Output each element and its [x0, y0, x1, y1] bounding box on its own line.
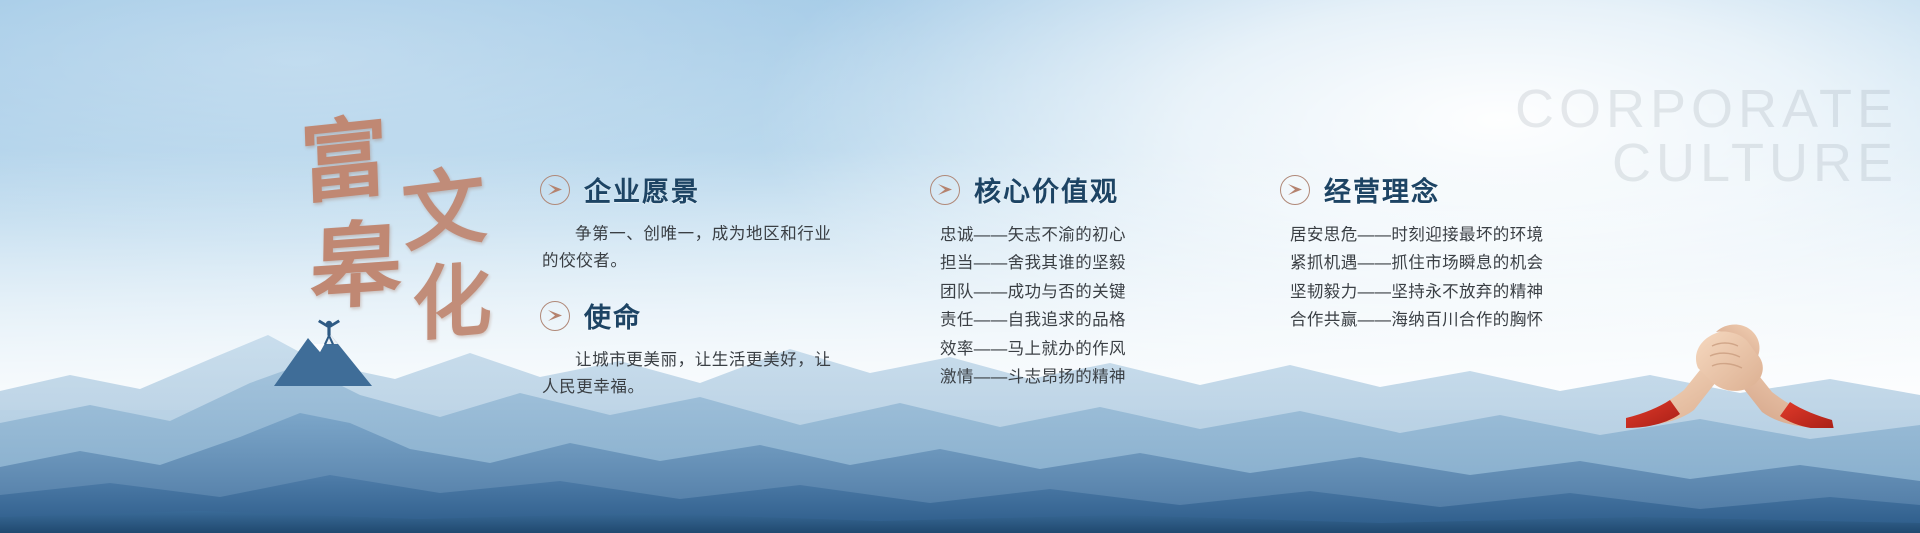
list-item: 效率——马上就办的作风: [940, 335, 1230, 363]
circled-arrow-icon: [1280, 175, 1310, 205]
list-item: 居安思危——时刻迎接最坏的环境: [1290, 221, 1610, 249]
body-corporate-vision: 争第一、创唯一，成为地区和行业的佼佼者。: [540, 221, 842, 274]
circled-arrow-icon: [930, 175, 960, 205]
heading-row-business-philosophy: 经营理念: [1280, 170, 1610, 209]
corporate-culture-banner: CORPORATE CULTURE 富 皋 文 化 企业愿景 争第一、创唯一，成…: [0, 0, 1920, 533]
calligraphy-char-1: 富: [299, 111, 390, 208]
list-item: 忠诚——矢志不渝的初心: [940, 221, 1230, 249]
list-item: 坚韧毅力——坚持永不放弃的精神: [1290, 278, 1610, 306]
column-core-values: 核心价值观 忠诚——矢志不渝的初心 担当——舍我其谁的坚毅 团队——成功与否的关…: [930, 170, 1230, 401]
heading-business-philosophy: 经营理念: [1324, 170, 1440, 209]
list-item: 合作共赢——海纳百川合作的胸怀: [1290, 306, 1610, 334]
list-item: 激情——斗志昂扬的精神: [940, 363, 1230, 391]
calligraphy-char-2: 皋: [309, 217, 402, 316]
column-vision: 企业愿景 争第一、创唯一，成为地区和行业的佼佼者。 使命 让城市更美丽，让生活更…: [540, 170, 860, 411]
heading-mission: 使命: [584, 296, 642, 335]
list-business-philosophy: 居安思危——时刻迎接最坏的环境 紧抓机遇——抓住市场瞬息的机会 坚韧毅力——坚持…: [1280, 221, 1610, 335]
clasped-hands-icon: [1620, 318, 1840, 428]
block-business-philosophy: 经营理念 居安思危——时刻迎接最坏的环境 紧抓机遇——抓住市场瞬息的机会 坚韧毅…: [1280, 170, 1610, 335]
list-core-values: 忠诚——矢志不渝的初心 担当——舍我其谁的坚毅 团队——成功与否的关键 责任——…: [930, 221, 1230, 391]
list-item: 紧抓机遇——抓住市场瞬息的机会: [1290, 249, 1610, 277]
body-mission: 让城市更美丽，让生活更美好，让人民更幸福。: [540, 347, 842, 400]
column-business-philosophy: 经营理念 居安思危——时刻迎接最坏的环境 紧抓机遇——抓住市场瞬息的机会 坚韧毅…: [1280, 170, 1610, 345]
heading-row-corporate-vision: 企业愿景: [540, 170, 860, 209]
circled-arrow-icon: [540, 175, 570, 205]
block-corporate-vision: 企业愿景 争第一、创唯一，成为地区和行业的佼佼者。: [540, 170, 860, 274]
heading-corporate-vision: 企业愿景: [584, 170, 700, 209]
calligraphy-char-3: 文: [399, 163, 488, 257]
heading-row-core-values: 核心价值观: [930, 170, 1230, 209]
watermark-line-1: CORPORATE: [1515, 84, 1898, 136]
heading-core-values: 核心价值观: [974, 170, 1119, 209]
block-core-values: 核心价值观 忠诚——矢志不渝的初心 担当——舍我其谁的坚毅 团队——成功与否的关…: [930, 170, 1230, 391]
circled-arrow-icon: [540, 301, 570, 331]
heading-row-mission: 使命: [540, 296, 860, 335]
list-item: 团队——成功与否的关键: [940, 278, 1230, 306]
block-mission: 使命 让城市更美丽，让生活更美好，让人民更幸福。: [540, 296, 860, 400]
list-item: 责任——自我追求的品格: [940, 306, 1230, 334]
brush-calligraphy-fuguo-wenhua: 富 皋 文 化: [294, 116, 514, 340]
calligraphy-char-4: 化: [412, 258, 492, 345]
list-item: 担当——舍我其谁的坚毅: [940, 249, 1230, 277]
